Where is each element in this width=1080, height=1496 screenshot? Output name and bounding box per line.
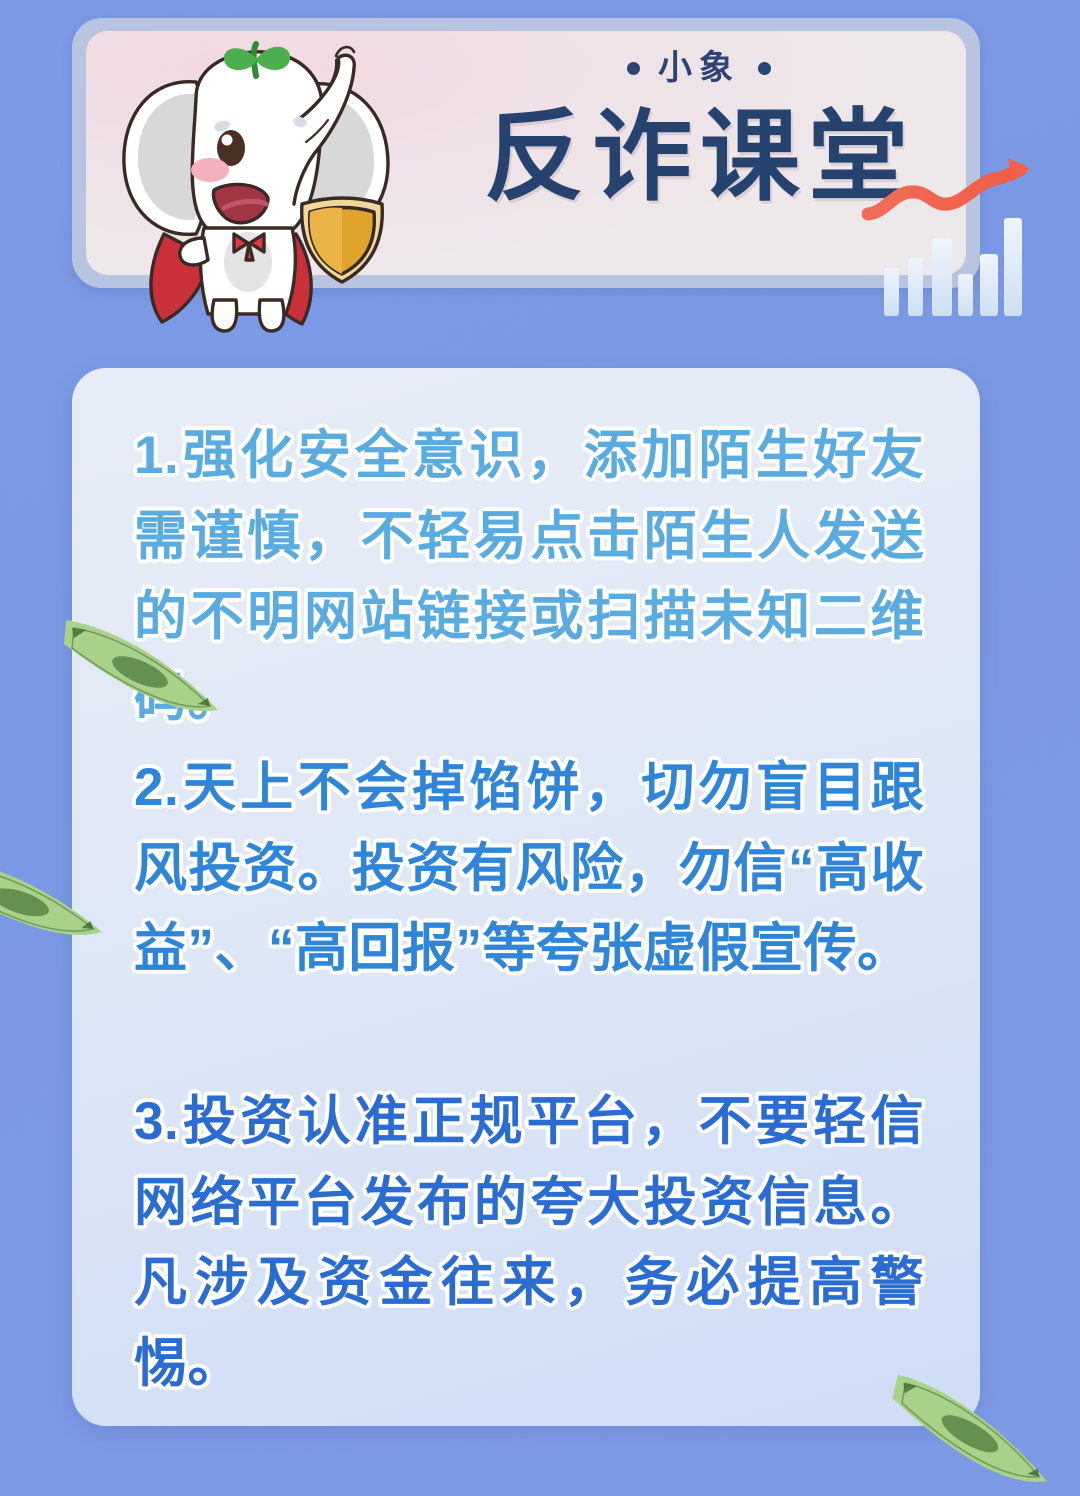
- elephant-mascot: [100, 38, 410, 333]
- arm-left: [180, 238, 208, 265]
- chart-bar-5: [980, 254, 998, 316]
- tip-paragraph-2: 2.天上不会掉馅饼，切勿盲目跟风投资。投资有风险，勿信“高收益”、“高回报”等夸…: [134, 748, 924, 990]
- chart-bar-4: [958, 274, 973, 316]
- cheek: [191, 158, 229, 182]
- money-bill-bottom-right: [880, 1362, 1067, 1496]
- chart-bar-3: [932, 238, 952, 316]
- chart-bar-2: [908, 258, 923, 316]
- tip-paragraph-3: 3.投资认准正规平台，不要轻信网络平台发布的夸大投资信息。凡涉及资金往来，务必提…: [134, 1082, 924, 1404]
- brand-name: 小象: [658, 51, 740, 85]
- eye-highlight: [222, 135, 233, 146]
- chart-bar-1: [884, 268, 899, 316]
- chart-trend-line: [868, 170, 1020, 214]
- brand-eyebrow: 小象: [416, 51, 966, 85]
- money-bill-left-lower: [0, 827, 114, 974]
- leg-left: [212, 300, 237, 331]
- growth-chart-decoration: [862, 152, 1080, 332]
- tips-content-card: 1.强化安全意识，添加陌生好友需谨慎，不轻易点击陌生人发送的不明网站链接或扫描未…: [72, 368, 980, 1426]
- bullet-dot-right-icon: [758, 62, 771, 75]
- bullet-dot-left-icon: [627, 62, 640, 75]
- leg-right: [259, 300, 284, 331]
- money-bill-left-upper: [58, 606, 228, 736]
- chart-bar-6: [1004, 218, 1022, 316]
- tip-paragraph-1: 1.强化安全意识，添加陌生好友需谨慎，不轻易点击陌生人发送的不明网站链接或扫描未…: [134, 416, 924, 738]
